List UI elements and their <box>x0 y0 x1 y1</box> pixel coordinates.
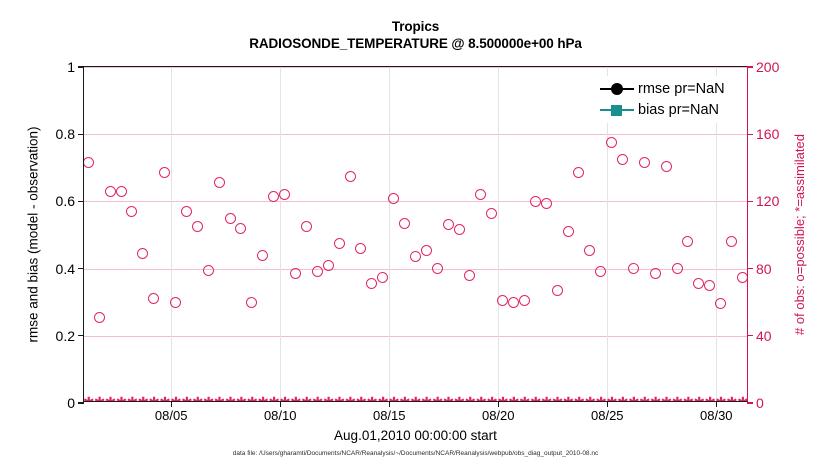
obs-possible-marker <box>704 280 715 291</box>
y-axis-right-title: # of obs: o=possible; *=assimilated <box>790 66 808 402</box>
gridline-vertical <box>280 67 281 401</box>
obs-assimilated-marker: ✱ <box>192 398 203 402</box>
obs-possible-marker <box>366 278 377 289</box>
chart-legend: rmse pr=NaNbias pr=NaN <box>596 76 729 123</box>
y-axis-right-tick-label: 160 <box>756 126 779 142</box>
gridline-horizontal <box>84 201 747 202</box>
x-axis-tick <box>607 401 608 407</box>
obs-possible-marker <box>475 189 486 200</box>
gridline-horizontal <box>84 67 747 68</box>
obs-assimilated-marker: ✱ <box>126 398 137 402</box>
obs-possible-marker <box>661 161 672 172</box>
obs-assimilated-marker: ✱ <box>639 398 650 402</box>
obs-assimilated-marker: ✱ <box>726 398 737 402</box>
obs-possible-marker <box>432 263 443 274</box>
y-axis-right-tick <box>747 268 753 269</box>
x-axis-tick-label: 08/10 <box>264 408 297 423</box>
y-axis-left-tick-label: 1 <box>67 59 75 75</box>
obs-possible-marker <box>454 224 465 235</box>
obs-possible-marker <box>345 171 356 182</box>
x-axis-tick-label: 08/15 <box>373 408 406 423</box>
obs-possible-marker <box>105 186 116 197</box>
y-axis-right-tick <box>747 201 753 202</box>
obs-assimilated-marker: ✱ <box>181 398 192 402</box>
obs-assimilated-marker: ✱ <box>159 398 170 402</box>
gridline-vertical <box>389 67 390 401</box>
obs-assimilated-marker: ✱ <box>355 398 366 402</box>
y-axis-right-tick <box>747 66 753 67</box>
obs-possible-marker <box>290 268 301 279</box>
obs-possible-marker <box>116 186 127 197</box>
obs-possible-marker <box>530 196 541 207</box>
y-axis-left-tick <box>78 201 84 202</box>
obs-possible-marker <box>334 238 345 249</box>
obs-possible-marker <box>639 157 650 168</box>
obs-possible-marker <box>606 137 617 148</box>
obs-possible-marker <box>486 208 497 219</box>
x-axis-tick <box>716 401 717 407</box>
obs-possible-marker <box>399 218 410 229</box>
obs-possible-marker <box>650 268 661 279</box>
obs-possible-marker <box>148 293 159 304</box>
obs-possible-marker <box>464 270 475 281</box>
obs-possible-marker <box>573 167 584 178</box>
obs-assimilated-marker: ✱ <box>573 398 584 402</box>
obs-assimilated-marker: ✱ <box>410 398 421 402</box>
obs-possible-marker <box>715 298 726 309</box>
obs-assimilated-marker: ✱ <box>246 398 257 402</box>
obs-assimilated-marker: ✱ <box>661 398 672 402</box>
obs-assimilated-marker: ✱ <box>268 398 279 402</box>
obs-assimilated-marker: ✱ <box>519 398 530 402</box>
legend-item-label: rmse pr=NaN <box>638 81 725 97</box>
obs-assimilated-marker: ✱ <box>530 398 541 402</box>
obs-assimilated-marker: ✱ <box>214 398 225 402</box>
y-axis-right-tick <box>747 402 753 403</box>
obs-possible-marker <box>519 295 530 306</box>
obs-assimilated-marker: ✱ <box>290 398 301 402</box>
obs-assimilated-marker: ✱ <box>693 398 704 402</box>
obs-possible-marker <box>595 266 606 277</box>
y-axis-right-tick <box>747 335 753 336</box>
obs-possible-marker <box>682 236 693 247</box>
obs-assimilated-marker: ✱ <box>682 398 693 402</box>
obs-assimilated-marker: ✱ <box>334 398 345 402</box>
obs-assimilated-marker: ✱ <box>301 398 312 402</box>
obs-assimilated-marker: ✱ <box>105 398 116 402</box>
obs-possible-marker <box>301 221 312 232</box>
x-axis-tick <box>389 401 390 407</box>
obs-possible-marker <box>268 191 279 202</box>
obs-possible-marker <box>377 272 388 283</box>
obs-assimilated-marker: ✱ <box>225 398 236 402</box>
obs-possible-marker <box>203 265 214 276</box>
obs-possible-marker <box>410 251 421 262</box>
obs-assimilated-marker: ✱ <box>203 398 214 402</box>
y-axis-right-tick-label: 0 <box>756 395 764 411</box>
obs-possible-marker <box>246 297 257 308</box>
obs-possible-marker <box>672 263 683 274</box>
obs-assimilated-marker: ✱ <box>704 398 715 402</box>
obs-assimilated-marker: ✱ <box>541 398 552 402</box>
gridline-horizontal <box>84 269 747 270</box>
figure-canvas: Tropics RADIOSONDE_TEMPERATURE @ 8.50000… <box>0 0 830 470</box>
obs-assimilated-marker: ✱ <box>399 398 410 402</box>
obs-assimilated-marker: ✱ <box>116 398 127 402</box>
chart-title-block: Tropics RADIOSONDE_TEMPERATURE @ 8.50000… <box>83 18 748 53</box>
gridline-vertical <box>498 67 499 401</box>
obs-assimilated-marker: ✱ <box>584 398 595 402</box>
obs-assimilated-marker: ✱ <box>563 398 574 402</box>
obs-possible-marker <box>323 260 334 271</box>
y-axis-right-tick-label: 40 <box>756 328 772 344</box>
legend-square-icon <box>600 103 634 117</box>
legend-circle-icon <box>600 82 634 96</box>
obs-assimilated-marker: ✱ <box>628 398 639 402</box>
obs-possible-marker <box>137 248 148 259</box>
obs-assimilated-marker: ✱ <box>443 398 454 402</box>
obs-possible-marker <box>541 198 552 209</box>
obs-possible-marker <box>563 226 574 237</box>
obs-assimilated-marker: ✱ <box>235 398 246 402</box>
gridline-horizontal <box>84 134 747 135</box>
obs-possible-marker <box>617 154 628 165</box>
data-file-footer: data file: /Users/gharamti/Documents/NCA… <box>83 450 748 457</box>
obs-possible-marker <box>214 177 225 188</box>
x-axis-tick <box>280 401 281 407</box>
obs-assimilated-marker: ✱ <box>94 398 105 402</box>
obs-assimilated-marker: ✱ <box>323 398 334 402</box>
obs-assimilated-marker: ✱ <box>432 398 443 402</box>
x-axis-tick-label: 08/30 <box>700 408 733 423</box>
obs-possible-marker <box>508 297 519 308</box>
obs-possible-marker <box>312 266 323 277</box>
obs-possible-marker <box>279 189 290 200</box>
obs-possible-marker <box>84 157 94 168</box>
y-axis-left-tick-label: 0.6 <box>56 193 75 209</box>
obs-assimilated-marker: ✱ <box>454 398 465 402</box>
obs-possible-marker <box>192 221 203 232</box>
obs-possible-marker <box>225 213 236 224</box>
legend-item[interactable]: rmse pr=NaN <box>600 78 725 99</box>
obs-possible-marker <box>443 219 454 230</box>
obs-assimilated-marker: ✱ <box>312 398 323 402</box>
obs-assimilated-marker: ✱ <box>475 398 486 402</box>
y-axis-right-tick-label: 200 <box>756 59 779 75</box>
obs-possible-marker <box>628 263 639 274</box>
obs-possible-marker <box>181 206 192 217</box>
obs-assimilated-marker: ✱ <box>137 398 148 402</box>
obs-possible-marker <box>388 193 399 204</box>
obs-assimilated-marker: ✱ <box>617 398 628 402</box>
obs-assimilated-marker: ✱ <box>508 398 519 402</box>
obs-assimilated-marker: ✱ <box>148 398 159 402</box>
y-axis-right-title-text: # of obs: o=possible; *=assimilated <box>792 134 807 335</box>
y-axis-right-tick-label: 120 <box>756 193 779 209</box>
obs-possible-marker <box>726 236 737 247</box>
obs-assimilated-marker: ✱ <box>486 398 497 402</box>
y-axis-left-title: rmse and bias (model - observation) <box>24 66 42 402</box>
obs-possible-marker <box>235 223 246 234</box>
obs-assimilated-marker: ✱ <box>377 398 388 402</box>
x-axis-tick-label: 08/20 <box>482 408 515 423</box>
obs-possible-marker <box>159 167 170 178</box>
obs-assimilated-marker: ✱ <box>345 398 356 402</box>
y-axis-left-tick <box>78 402 84 403</box>
obs-possible-marker <box>170 297 181 308</box>
obs-possible-marker <box>737 272 747 283</box>
y-axis-left-tick <box>78 66 84 67</box>
obs-possible-marker <box>126 206 137 217</box>
legend-item-label: bias pr=NaN <box>638 102 719 118</box>
obs-assimilated-marker: ✱ <box>552 398 563 402</box>
obs-assimilated-marker: ✱ <box>84 398 94 402</box>
obs-assimilated-marker: ✱ <box>672 398 683 402</box>
legend-item[interactable]: bias pr=NaN <box>600 99 725 120</box>
x-axis-title: Aug.01,2010 00:00:00 start <box>83 428 748 443</box>
gridline-vertical <box>171 67 172 401</box>
x-axis-tick-label: 08/25 <box>591 408 624 423</box>
obs-possible-marker <box>693 278 704 289</box>
obs-possible-marker <box>584 245 595 256</box>
obs-assimilated-marker: ✱ <box>257 398 268 402</box>
chart-title-sub: RADIOSONDE_TEMPERATURE @ 8.500000e+00 hP… <box>83 35 748 53</box>
obs-assimilated-marker: ✱ <box>464 398 475 402</box>
y-axis-left-tick-label: 0.4 <box>56 261 75 277</box>
obs-assimilated-marker: ✱ <box>421 398 432 402</box>
obs-possible-marker <box>257 250 268 261</box>
gridline-horizontal <box>84 336 747 337</box>
obs-assimilated-marker: ✱ <box>737 398 747 402</box>
y-axis-left-tick <box>78 335 84 336</box>
obs-possible-marker <box>552 285 563 296</box>
y-axis-right-tick <box>747 134 753 135</box>
obs-possible-marker <box>94 312 105 323</box>
x-axis-tick-label: 08/05 <box>155 408 188 423</box>
obs-possible-marker <box>497 295 508 306</box>
y-axis-right-tick-label: 80 <box>756 261 772 277</box>
obs-assimilated-marker: ✱ <box>595 398 606 402</box>
obs-assimilated-marker: ✱ <box>366 398 377 402</box>
y-axis-left-tick-label: 0.2 <box>56 328 75 344</box>
y-axis-left-tick <box>78 134 84 135</box>
obs-assimilated-marker: ✱ <box>650 398 661 402</box>
obs-possible-marker <box>355 243 366 254</box>
x-axis-tick <box>498 401 499 407</box>
y-axis-left-tick-label: 0 <box>67 395 75 411</box>
obs-possible-marker <box>421 245 432 256</box>
y-axis-left-tick-label: 0.8 <box>56 126 75 142</box>
y-axis-left-tick <box>78 268 84 269</box>
x-axis-tick <box>171 401 172 407</box>
chart-title-main: Tropics <box>83 18 748 35</box>
y-axis-left-title-text: rmse and bias (model - observation) <box>26 126 41 342</box>
